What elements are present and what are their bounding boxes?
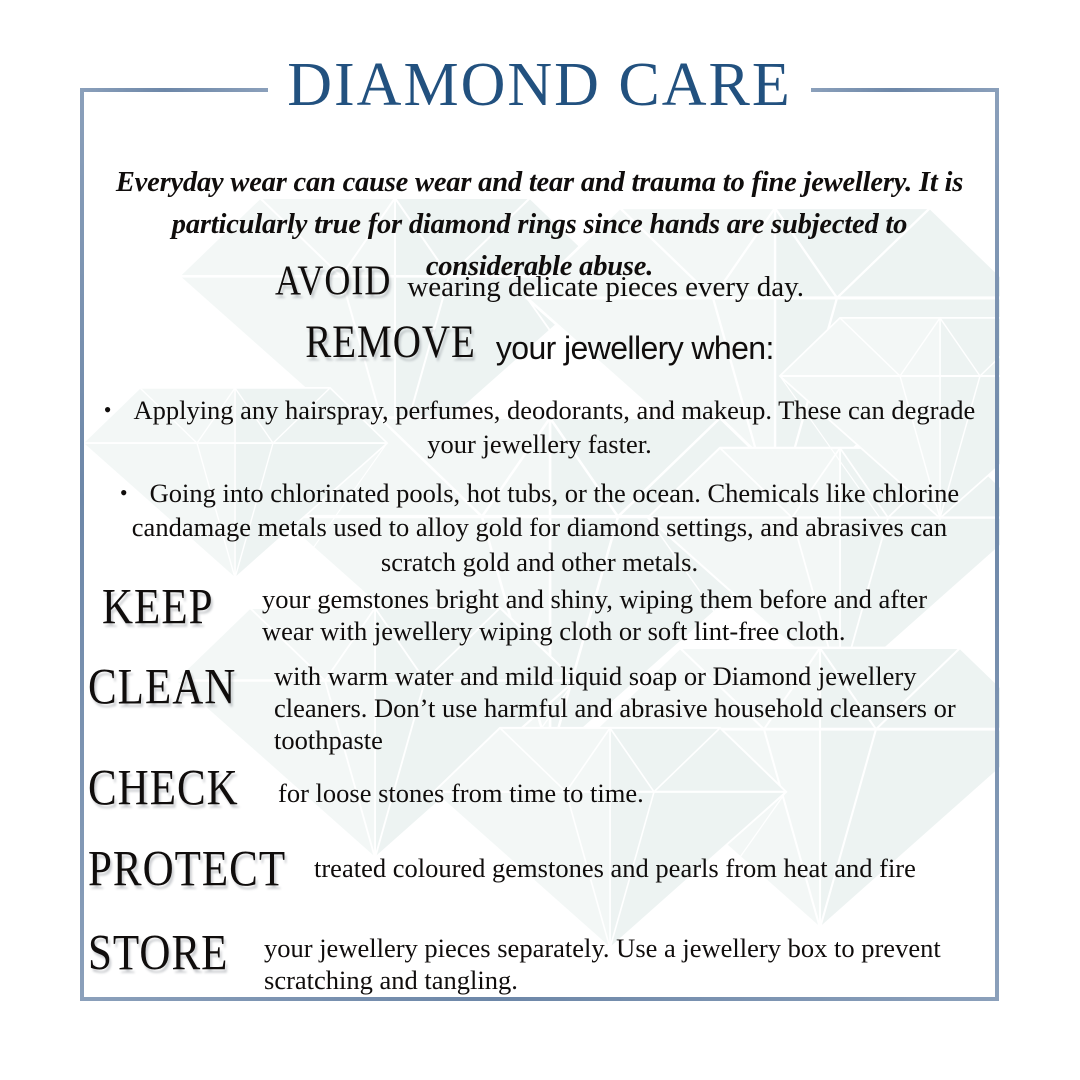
store-text: your jewellery pieces separately. Use a … (264, 928, 983, 996)
store-keyword: STORE (88, 928, 228, 979)
keep-keyword: KEEP (102, 582, 214, 633)
check-section: CHECK for loose stones from time to time… (88, 763, 983, 814)
store-keyword-cell: STORE (88, 928, 264, 979)
diamond-care-poster: DIAMOND CARE Everyday wear can cause wea… (0, 0, 1080, 1080)
clean-keyword: CLEAN (88, 662, 236, 713)
avoid-keyword: AVOID (275, 255, 391, 305)
clean-section: CLEAN with warm water and mild liquid so… (88, 660, 983, 756)
avoid-text: wearing delicate pieces every day. (407, 271, 804, 303)
keep-section: KEEP your gemstones bright and shiny, wi… (102, 580, 982, 647)
list-item-text: Going into chlorinated pools, hot tubs, … (132, 478, 959, 577)
remove-bullet-list: •Applying any hairspray, perfumes, deodo… (100, 393, 979, 593)
remove-section: REMOVEyour jewellery when: (80, 324, 999, 369)
remove-text: your jewellery when: (496, 330, 774, 366)
avoid-section: AVOIDwearing delicate pieces every day. (80, 263, 999, 305)
clean-text: with warm water and mild liquid soap or … (274, 660, 983, 756)
protect-text: treated coloured gemstones and pearls fr… (314, 844, 983, 884)
list-item: •Going into chlorinated pools, hot tubs,… (100, 476, 979, 579)
bullet-dot-icon: • (120, 480, 128, 505)
poster-content: DIAMOND CARE Everyday wear can cause wea… (80, 88, 999, 1001)
list-item-text: Applying any hairspray, perfumes, deodor… (133, 395, 975, 459)
protect-keyword: PROTECT (88, 844, 286, 895)
remove-keyword: REMOVE (305, 316, 476, 369)
list-item: •Applying any hairspray, perfumes, deodo… (100, 393, 979, 462)
title-text: DIAMOND CARE (287, 51, 792, 119)
clean-keyword-cell: CLEAN (88, 660, 274, 713)
keep-keyword-cell: KEEP (102, 580, 262, 633)
check-text: for loose stones from time to time. (278, 763, 983, 809)
page-title: DIAMOND CARE (80, 54, 999, 116)
store-section: STORE your jewellery pieces separately. … (88, 928, 983, 996)
protect-keyword-cell: PROTECT (88, 844, 314, 895)
check-keyword: CHECK (88, 763, 239, 814)
protect-section: PROTECT treated coloured gemstones and p… (88, 844, 983, 895)
check-keyword-cell: CHECK (88, 763, 278, 814)
keep-text: your gemstones bright and shiny, wiping … (262, 580, 982, 647)
bullet-dot-icon: • (104, 397, 112, 422)
